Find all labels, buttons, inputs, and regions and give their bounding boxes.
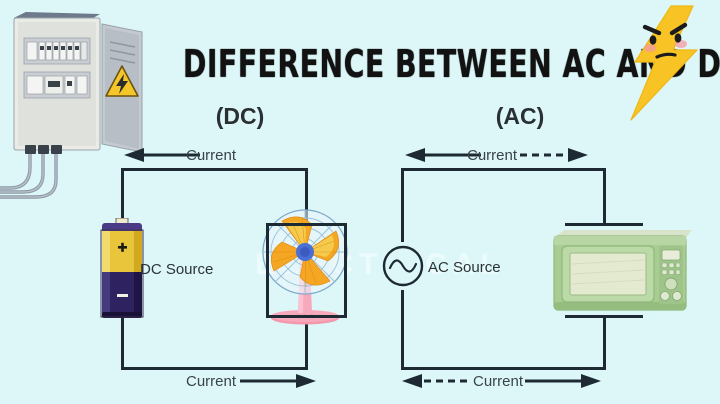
dc-circuit: Current Current [0,0,360,404]
ac-wire-right-lower [603,315,606,370]
ac-wire-left-lower [401,290,404,370]
dc-bottom-current-arrow [238,372,318,390]
ac-bottom-current-label: Current [473,373,523,390]
ac-wire-left-upper [401,168,404,242]
dc-wire-top [121,168,308,171]
ac-microwave-load [546,224,694,318]
dc-load-terminal-top [266,223,346,226]
ac-top-current-label: Current [467,147,517,164]
ac-source-label: AC Source [428,259,501,276]
dc-load-bracket-left [266,223,269,318]
ac-source-symbol [382,240,424,292]
dc-wire-left-lower [121,318,124,370]
ac-wire-bottom [401,367,606,370]
ac-bottom-right-arrow [523,372,603,390]
dc-load-bracket-right [344,223,347,318]
dc-wire-left-upper [121,168,124,221]
infographic-canvas: ELECTRICAL DIFFERENCE BETWEEN AC AND DC … [0,0,720,404]
dc-load-terminal-bottom [266,315,346,318]
dc-wire-bottom [121,367,308,370]
dc-source-label: DC Source [140,261,213,278]
ac-wire-top [401,168,606,171]
ac-bottom-left-arrow-dashed [400,372,470,390]
ac-top-right-arrow-dashed [520,146,590,164]
dc-bottom-current-label: Current [186,373,236,390]
ac-wire-right-upper [603,168,606,223]
dc-top-current-label: Current [186,147,236,164]
ac-circuit: Current Current AC Source [360,0,720,404]
